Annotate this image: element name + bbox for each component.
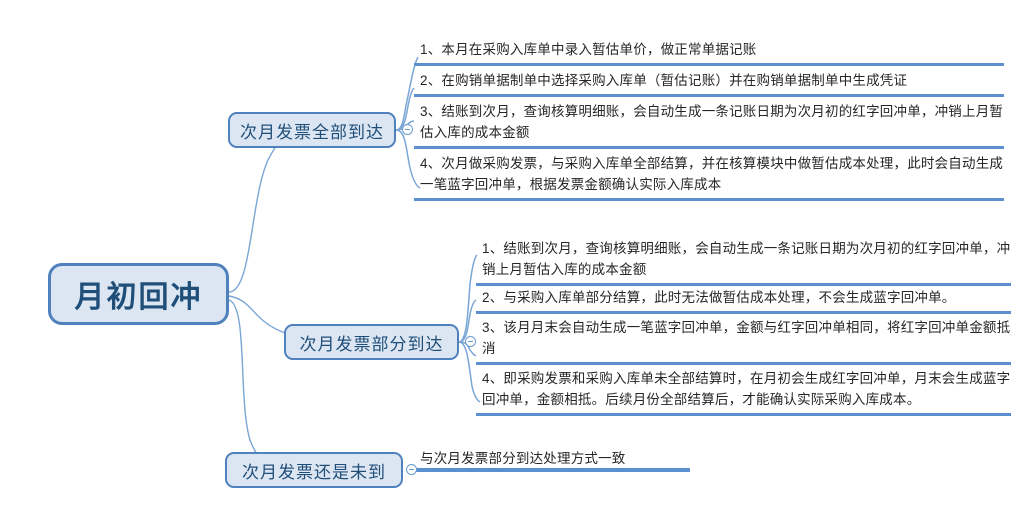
leaf-item-1-1[interactable]: 1、本月在采购入库单中录入暂估单价，做正常单据记账 bbox=[414, 38, 1004, 66]
leaf-item-2-2-text: 2、与采购入库单部分结算，此时无法做暂估成本处理，不会生成蓝字回冲单。 bbox=[482, 290, 956, 305]
leaf-item-1-4[interactable]: 4、次月做采购发票，与采购入库单全部结算，并在核算模块中做暂估成本处理，此时会自… bbox=[414, 152, 1004, 201]
leaf-item-1-2-text: 2、在购销单据制单中选择采购入库单（暂估记账）并在购销单据制单中生成凭证 bbox=[420, 73, 907, 88]
branch-node-2[interactable]: 次月发票部分到达 bbox=[284, 324, 459, 360]
leaf-item-1-3-text: 3、结账到次月，查询核算明细账，会自动生成一条记账日期为次月初的红字回冲单，冲销… bbox=[420, 104, 1003, 140]
connector-root-to-branch-1 bbox=[229, 130, 300, 292]
leaf-item-2-2[interactable]: 2、与采购入库单部分结算，此时无法做暂估成本处理，不会生成蓝字回冲单。 bbox=[476, 286, 1011, 314]
leaf-item-2-3[interactable]: 3、该月月末会自动生成一笔蓝字回冲单，金额与红字回冲单相同，将红字回冲单金额抵消 bbox=[476, 316, 1011, 365]
connector-root-to-branch-3 bbox=[229, 300, 282, 470]
leaf-item-2-1-text: 1、结账到次月，查询核算明细账，会自动生成一条记账日期为次月初的红字回冲单，冲销… bbox=[482, 241, 1010, 277]
leaf-item-2-3-text: 3、该月月末会自动生成一笔蓝字回冲单，金额与红字回冲单相同，将红字回冲单金额抵消 bbox=[482, 320, 1010, 356]
branch-node-3-label: 次月发票还是未到 bbox=[242, 458, 386, 483]
root-node[interactable]: 月初回冲 bbox=[48, 263, 229, 325]
leaf-item-2-4[interactable]: 4、即采购发票和采购入库单未全部结算时，在月初会生成红字回冲单，月末会生成蓝字回… bbox=[476, 367, 1011, 416]
leaf-item-3-1[interactable]: 与次月发票部分到达处理方式一致 bbox=[416, 447, 696, 472]
root-node-label: 月初回冲 bbox=[75, 272, 203, 316]
branch-node-1[interactable]: 次月发票全部到达 bbox=[228, 112, 396, 148]
branch-node-2-label: 次月发票部分到达 bbox=[300, 330, 444, 355]
branch-node-3[interactable]: 次月发票还是未到 bbox=[225, 452, 403, 488]
collapse-circle-icon-branch-2[interactable] bbox=[465, 336, 476, 347]
leaf-item-3-1-text: 与次月发票部分到达处理方式一致 bbox=[420, 451, 626, 466]
leaf-item-1-1-text: 1、本月在采购入库单中录入暂估单价，做正常单据记账 bbox=[420, 42, 757, 57]
leaf-item-1-3[interactable]: 3、结账到次月，查询核算明细账，会自动生成一条记账日期为次月初的红字回冲单，冲销… bbox=[414, 100, 1004, 149]
collapse-circle-icon-branch-1[interactable] bbox=[402, 124, 413, 135]
leaf-item-1-2[interactable]: 2、在购销单据制单中选择采购入库单（暂估记账）并在购销单据制单中生成凭证 bbox=[414, 69, 1004, 97]
branch-node-1-label: 次月发票全部到达 bbox=[240, 118, 384, 143]
connector-branch-2-item-1 bbox=[459, 255, 477, 342]
leaf-item-2-4-text: 4、即采购发票和采购入库单未全部结算时，在月初会生成红字回冲单，月末会生成蓝字回… bbox=[482, 371, 1010, 407]
mindmap-canvas: 月初回冲 次月发票全部到达 1、本月在采购入库单中录入暂估单价，做正常单据记账 … bbox=[0, 0, 1019, 515]
leaf-item-2-1[interactable]: 1、结账到次月，查询核算明细账，会自动生成一条记账日期为次月初的红字回冲单，冲销… bbox=[476, 237, 1011, 286]
leaf-item-1-4-text: 4、次月做采购发票，与采购入库单全部结算，并在核算模块中做暂估成本处理，此时会自… bbox=[420, 156, 1003, 192]
